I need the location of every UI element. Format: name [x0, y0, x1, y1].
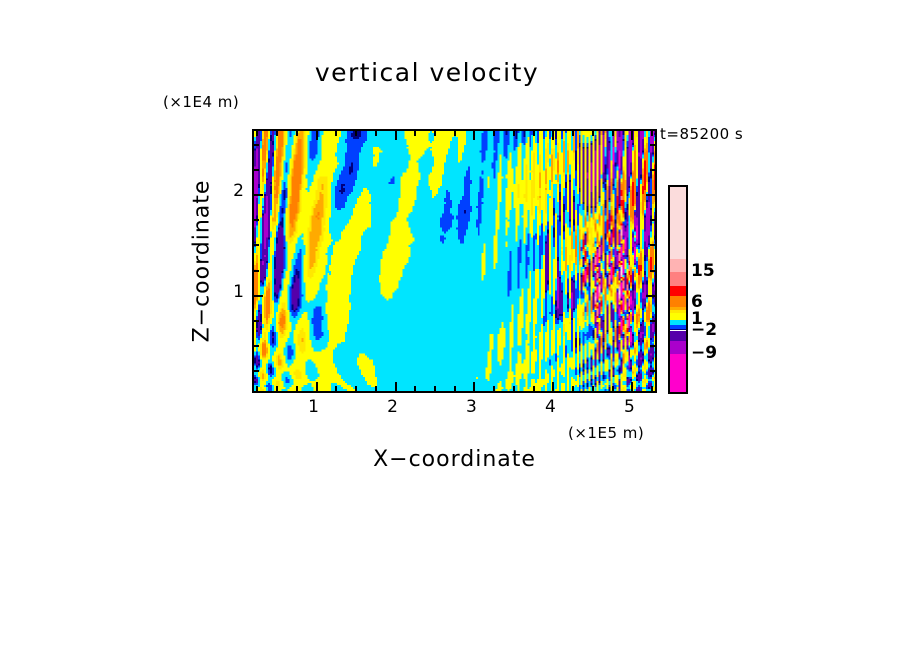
x-tick — [395, 382, 397, 391]
x-tick-top — [355, 131, 357, 136]
y-tick — [254, 169, 259, 171]
x-tick-top — [513, 131, 515, 136]
x-tick — [355, 386, 357, 391]
y-tick-right — [646, 295, 655, 297]
plot-title-text: vertical velocity — [315, 58, 539, 87]
x-tick-top — [256, 131, 258, 136]
x-tick-top — [631, 131, 633, 140]
plot-area — [252, 129, 657, 393]
x-tick-label: 5 — [614, 397, 644, 417]
y-tick-right — [650, 219, 655, 221]
y-axis-title-text: Z−coordinate — [190, 180, 215, 343]
x-tick-top — [533, 131, 535, 136]
x-tick — [473, 382, 475, 391]
x-tick — [454, 386, 456, 391]
x-tick-top — [592, 131, 594, 136]
x-tick — [592, 386, 594, 391]
x-tick-top — [276, 131, 278, 136]
colorbar-band — [670, 331, 686, 341]
colorbar-band — [670, 341, 686, 355]
y-tick — [254, 370, 259, 372]
x-tick — [612, 386, 614, 391]
x-tick — [296, 386, 298, 391]
x-tick-top — [296, 131, 298, 136]
y-tick-right — [650, 345, 655, 347]
x-tick — [552, 382, 554, 391]
x-tick-top — [395, 131, 397, 140]
x-tick — [256, 386, 258, 391]
y-tick — [254, 345, 259, 347]
y-tick-right — [650, 270, 655, 272]
colorbar-band — [670, 259, 686, 273]
x-tick-top — [414, 131, 416, 136]
colorbar-band — [670, 354, 686, 392]
y-tick-right — [650, 144, 655, 146]
figure-canvas: vertical velocity (×1E4 m) t=85200 s 123… — [0, 0, 904, 654]
time-annotation: t=85200 s — [660, 125, 743, 143]
y-tick — [254, 320, 259, 322]
heatmap-field — [254, 131, 655, 391]
x-tick-top — [572, 131, 574, 136]
page-title: vertical velocity — [0, 58, 904, 87]
x-tick-top — [473, 131, 475, 140]
colorbar-band — [670, 187, 686, 259]
x-tick-top — [335, 131, 337, 136]
y-axis-title: Z−coordinate — [191, 176, 213, 346]
x-tick-label: 4 — [535, 397, 565, 417]
y-axis-unit-label: (×1E4 m) — [163, 93, 239, 111]
x-tick — [631, 382, 633, 391]
x-tick-top — [612, 131, 614, 136]
x-axis-unit-label: (×1E5 m) — [568, 424, 644, 442]
x-tick — [533, 386, 535, 391]
colorbar-band — [670, 296, 686, 306]
y-tick-right — [650, 244, 655, 246]
x-tick-top — [493, 131, 495, 136]
x-tick — [572, 386, 574, 391]
colorbar-band — [670, 286, 686, 296]
x-tick-label: 1 — [299, 397, 329, 417]
colorbar-tick-label: −9 — [691, 343, 717, 363]
x-tick — [493, 386, 495, 391]
colorbar-band — [670, 313, 686, 320]
x-tick — [316, 382, 318, 391]
x-tick — [335, 386, 337, 391]
x-tick-top — [454, 131, 456, 136]
y-tick — [254, 194, 263, 196]
x-tick-top — [552, 131, 554, 140]
x-tick — [414, 386, 416, 391]
x-tick-top — [375, 131, 377, 136]
y-tick-right — [650, 370, 655, 372]
x-tick — [276, 386, 278, 391]
x-tick-top — [316, 131, 318, 140]
x-axis-title: X−coordinate — [252, 447, 657, 472]
x-tick — [513, 386, 515, 391]
y-tick — [254, 295, 263, 297]
x-tick — [651, 386, 653, 391]
colorbar-tick-label: 15 — [691, 261, 715, 281]
y-tick — [254, 219, 259, 221]
y-tick — [254, 244, 259, 246]
colorbar-tick-label: −2 — [691, 320, 717, 340]
y-tick-label: 1 — [222, 282, 244, 302]
x-tick-top — [434, 131, 436, 136]
x-tick — [434, 386, 436, 391]
y-tick-label: 2 — [222, 181, 244, 201]
y-tick-right — [650, 169, 655, 171]
x-tick-label: 2 — [378, 397, 408, 417]
y-tick — [254, 270, 259, 272]
colorbar-band — [670, 272, 686, 286]
colorbar — [668, 185, 688, 394]
y-tick — [254, 144, 259, 146]
y-tick-right — [646, 194, 655, 196]
x-tick-top — [651, 131, 653, 136]
y-tick-right — [650, 320, 655, 322]
x-tick — [375, 386, 377, 391]
x-tick-label: 3 — [456, 397, 486, 417]
